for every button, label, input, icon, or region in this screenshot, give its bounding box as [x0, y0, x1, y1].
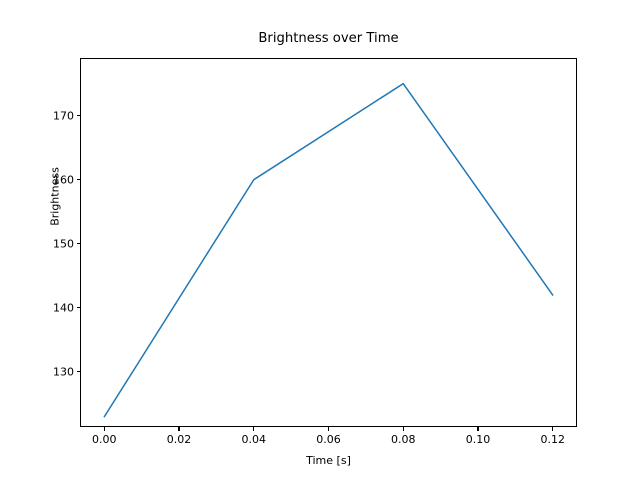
x-tick-label: 0.02: [167, 433, 192, 446]
x-tick-label: 0.04: [242, 433, 267, 446]
data-series-brightness: [104, 84, 552, 417]
line-series-brightness: [104, 84, 552, 417]
y-tick-label: 170: [32, 109, 74, 122]
y-axis-label: Brightness: [49, 142, 62, 252]
plot-canvas: [0, 0, 640, 480]
matplotlib-figure: Brightness over Time 0.000.020.040.060.0…: [0, 0, 640, 480]
y-tick-mark: [77, 307, 81, 308]
x-tick-mark: [328, 427, 329, 431]
x-tick-mark: [253, 427, 254, 431]
x-tick-label: 0.10: [466, 433, 491, 446]
x-tick-label: 0.06: [316, 433, 341, 446]
x-tick-mark: [552, 427, 553, 431]
x-tick-mark: [477, 427, 478, 431]
x-tick-mark: [104, 427, 105, 431]
x-tick-mark: [178, 427, 179, 431]
x-tick-mark: [403, 427, 404, 431]
y-tick-mark: [77, 243, 81, 244]
x-tick-label: 0.08: [391, 433, 416, 446]
y-tick-label: 130: [32, 365, 74, 378]
y-tick-mark: [77, 371, 81, 372]
y-tick-label: 140: [32, 301, 74, 314]
y-tick-mark: [77, 115, 81, 116]
x-tick-label: 0.12: [540, 433, 565, 446]
x-tick-label: 0.00: [92, 433, 117, 446]
y-tick-mark: [77, 179, 81, 180]
x-axis-label: Time [s]: [80, 454, 577, 467]
